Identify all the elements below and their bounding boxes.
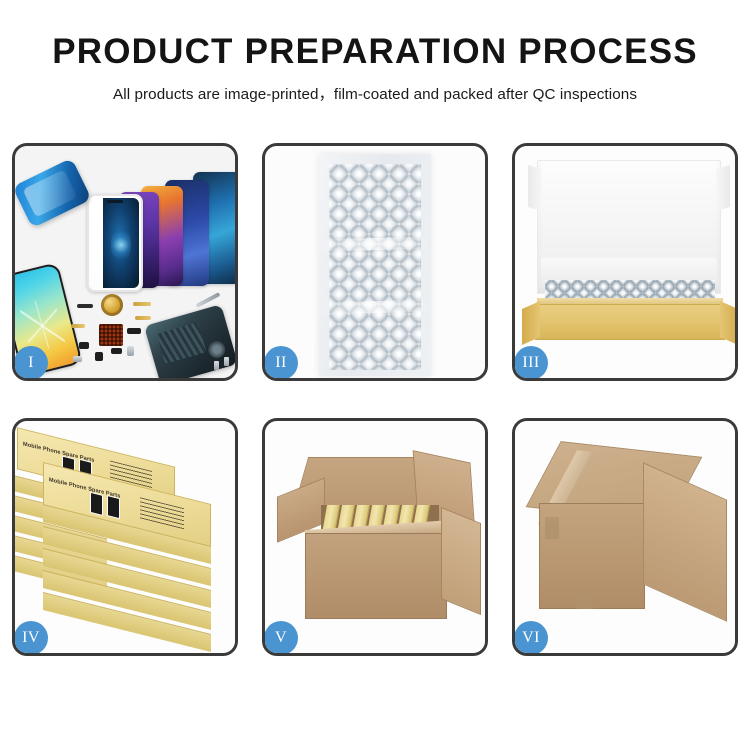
stacked-retail-boxes-illustration: Mobile Phone Spare Parts Mobile Phone Sp…: [15, 421, 235, 653]
process-step-6-panel: VI: [512, 418, 738, 656]
phone-front-display: [103, 198, 139, 288]
step-badge-3: III: [514, 346, 548, 380]
box-front-right-edge: [720, 301, 735, 345]
tape-tab-lower: [577, 591, 593, 609]
process-step-5-panel: V: [262, 418, 488, 656]
process-step-grid: I II III: [12, 143, 739, 656]
step-badge-4: IV: [14, 621, 48, 655]
foam-padding-icon: [541, 258, 717, 282]
retail-box-phone-image-2b: [107, 495, 120, 519]
spare-part-vibrator: [127, 346, 134, 356]
spare-part-connector: [127, 328, 141, 334]
bubble-wrap-illustration: [265, 146, 485, 378]
speaker-coil-icon: [101, 294, 123, 316]
page-title: PRODUCT PREPARATION PROCESS: [0, 34, 750, 71]
box-stack: Mobile Phone Spare Parts Mobile Phone Sp…: [15, 421, 235, 653]
spare-part-chip-3: [111, 348, 122, 354]
screen-protector-film-icon: [15, 158, 92, 228]
step-badge-6: VI: [514, 621, 548, 655]
process-step-2-panel: II: [262, 143, 488, 381]
page-subtitle: All products are image-printed，film-coat…: [0, 82, 750, 104]
box-lid-tab-right: [716, 165, 730, 211]
copper-mesh-icon: [99, 324, 123, 346]
phone-parts-illustration: [15, 146, 235, 378]
box-lid-tab-left: [528, 165, 542, 211]
process-step-3-panel: III: [512, 143, 738, 381]
tape-tab-upper: [545, 517, 559, 539]
spare-part-button: [73, 356, 82, 362]
open-carton-illustration: [265, 421, 485, 653]
phone-chassis-icon: [144, 304, 235, 378]
bubble-wrap-pouch-icon: [319, 154, 431, 376]
screw-icon-2: [214, 361, 219, 370]
spare-part-bracket-1: [77, 304, 93, 308]
bubble-pattern: [329, 164, 421, 370]
spare-part-flex-cable-3: [71, 324, 85, 328]
spare-part-chip-1: [79, 342, 89, 349]
phone-wallpaper-burst: [111, 227, 131, 263]
screw-icon-1: [224, 357, 229, 366]
process-step-1-panel: I: [12, 143, 238, 381]
spare-part-flex-cable-1: [133, 302, 151, 306]
page-header: PRODUCT PREPARATION PROCESS All products…: [0, 0, 750, 104]
step-badge-5: V: [264, 621, 298, 655]
wrap-highlight-2: [319, 299, 431, 314]
retail-box-phone-image-2a: [90, 492, 103, 516]
film-highlight: [23, 170, 78, 218]
open-inner-box-illustration: [515, 146, 735, 378]
step-badge-1: I: [14, 346, 48, 380]
box-front-panel: [535, 304, 725, 340]
sealed-carton-illustration: [515, 421, 735, 653]
spare-part-chip-2: [95, 352, 103, 361]
sealed-carton-right-face: [643, 462, 727, 621]
carton-side-face: [441, 507, 481, 615]
phone-notch-icon: [107, 200, 123, 203]
step-badge-2: II: [264, 346, 298, 380]
spare-part-flex-cable-2: [135, 316, 151, 320]
phone-front-glass-icon: [87, 194, 143, 292]
process-step-4-panel: Mobile Phone Spare Parts Mobile Phone Sp…: [12, 418, 238, 656]
carton-front-face: [305, 533, 447, 619]
box-front-left-edge: [522, 301, 540, 345]
